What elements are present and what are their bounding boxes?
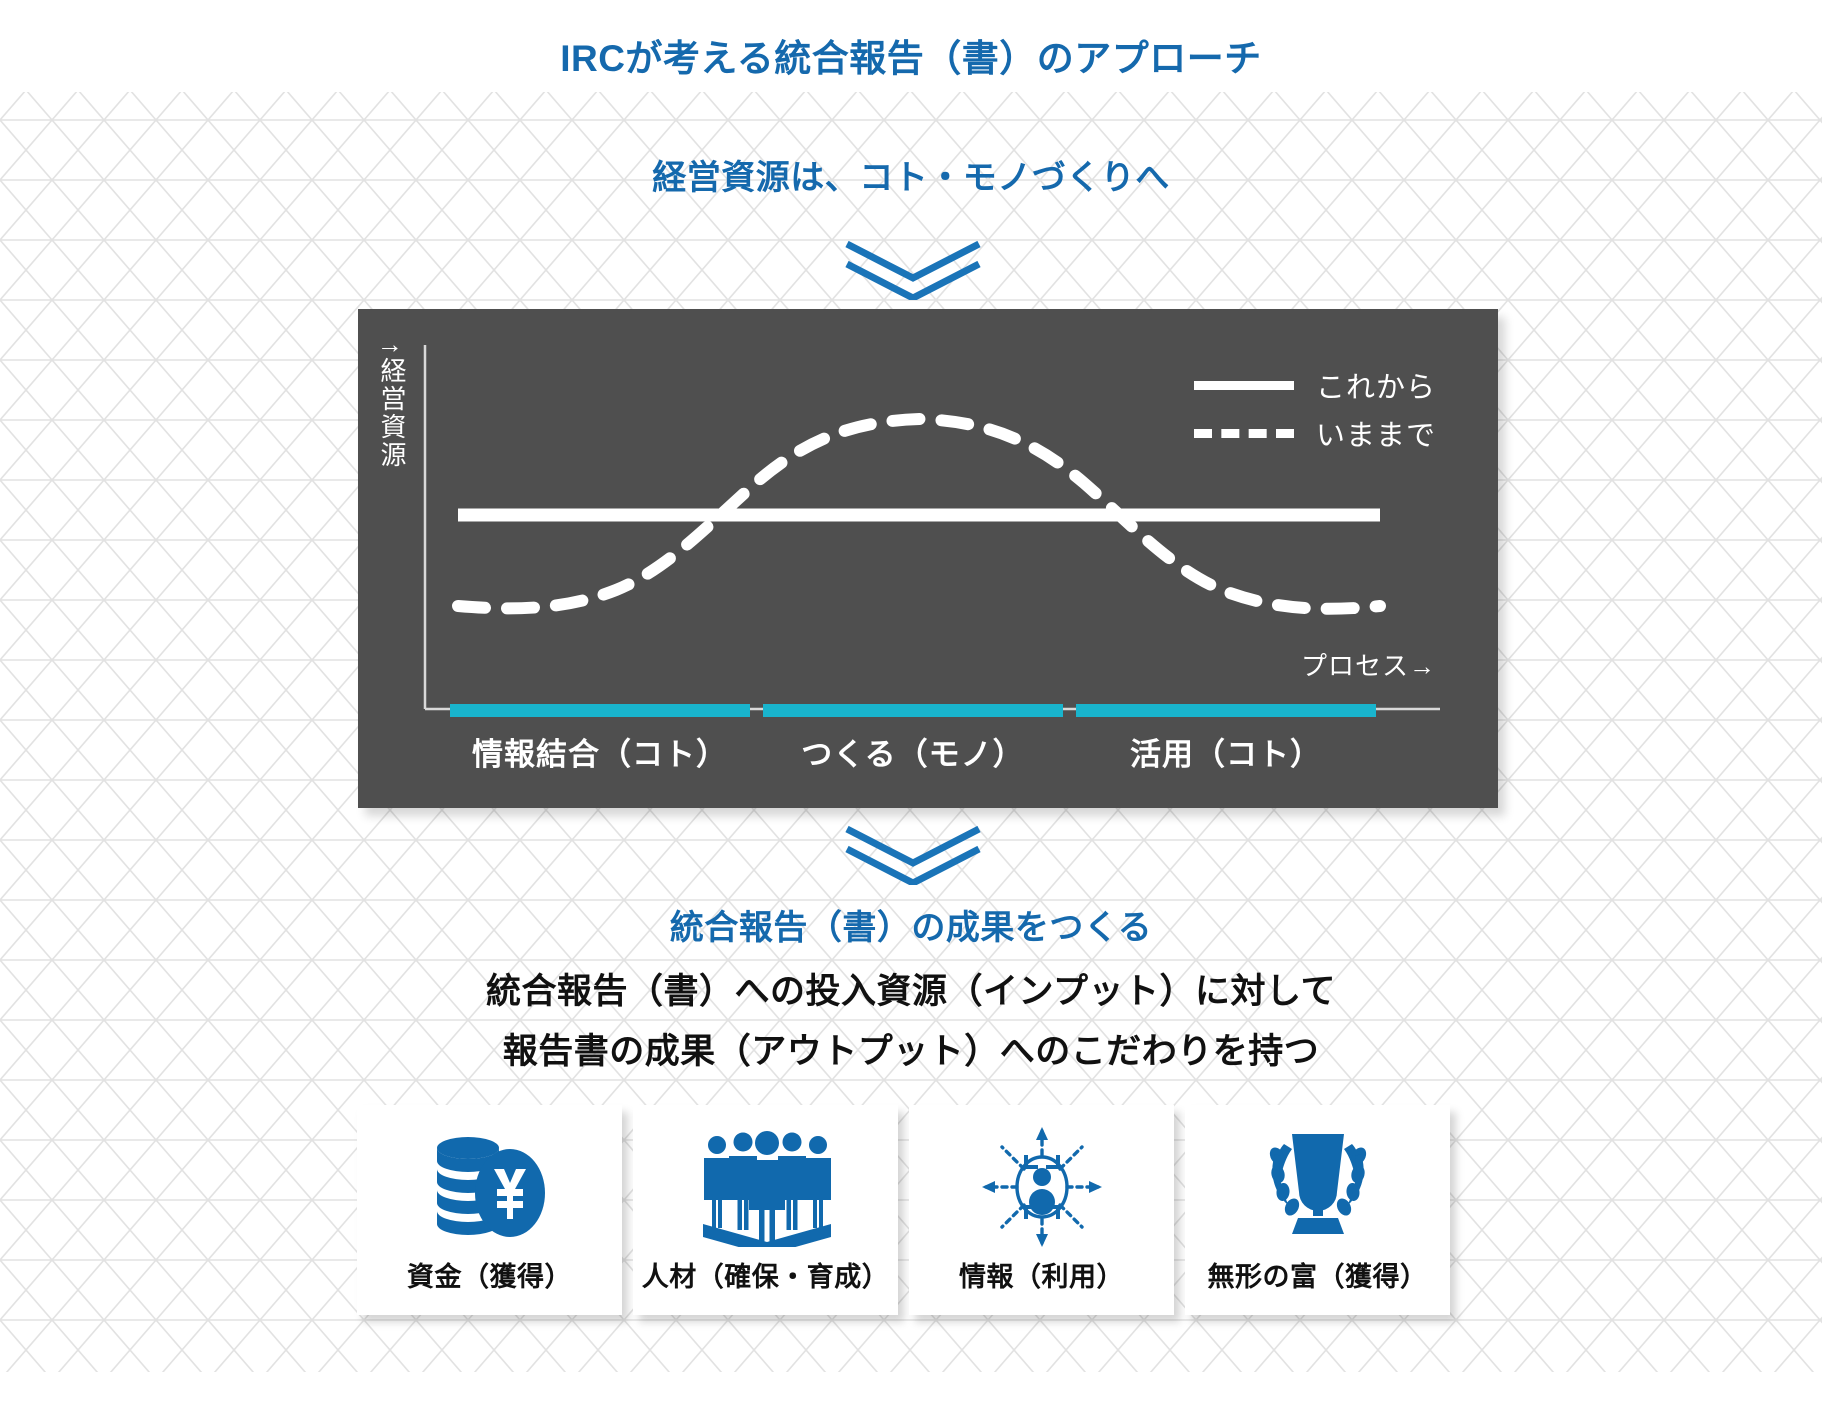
capital-cards: 資金（獲得） [357, 1105, 1450, 1315]
card-jinzai[interactable]: 人材（確保・育成） [633, 1105, 898, 1315]
people-group-icon [691, 1127, 841, 1247]
card-joho[interactable]: 情報（利用） [909, 1105, 1174, 1315]
legend-label-korekara: これから [1316, 364, 1436, 406]
segment-bar [450, 704, 750, 717]
segment-label: つくる（モノ） [763, 729, 1063, 774]
coins-yen-icon [422, 1127, 557, 1247]
card-shikin[interactable]: 資金（獲得） [357, 1105, 622, 1315]
process-segments: 情報結合（コト） つくる（モノ） 活用（コト） [450, 704, 1450, 790]
card-label: 資金（獲得） [407, 1255, 572, 1294]
x-axis-caption: プロセス→ [1301, 646, 1436, 683]
information-network-icon [972, 1127, 1112, 1247]
lead-heading: 経営資源は、コト・モノづくりへ [0, 150, 1822, 199]
page-title: IRCが考える統合報告（書）のアプローチ [0, 28, 1822, 82]
outcome-heading: 統合報告（書）の成果をつくる [0, 900, 1822, 949]
segment-tsukuru: つくる（モノ） [763, 704, 1063, 774]
trophy-laurel-icon [1248, 1127, 1388, 1247]
legend-swatch-dashed-line [1194, 429, 1294, 438]
legend-item-imamade: いままで [1194, 409, 1436, 457]
legend-label-imamade: いままで [1316, 412, 1436, 454]
segment-katsuyo: 活用（コト） [1076, 704, 1376, 774]
card-label: 人材（確保・育成） [642, 1255, 890, 1294]
chevron-down-double-icon-top [843, 240, 983, 300]
segment-label: 活用（コト） [1076, 729, 1376, 774]
legend-item-korekara: これから [1194, 361, 1436, 409]
card-label: 無形の富（獲得） [1208, 1255, 1428, 1294]
chart-legend: これから いままで [1194, 361, 1436, 457]
segment-label: 情報結合（コト） [450, 729, 750, 774]
outcome-line-1: 統合報告（書）への投入資源（インプット）に対して [0, 963, 1822, 1014]
chevron-down-double-icon-bottom [843, 825, 983, 885]
card-label: 情報（利用） [959, 1255, 1124, 1294]
resource-process-chart-panel: これから いままで プロセス→ 情報結合（コト） つくる（モノ） 活用（コト） [358, 309, 1498, 808]
card-mukei-no-tomi[interactable]: 無形の富（獲得） [1185, 1105, 1450, 1315]
outcome-line-2: 報告書の成果（アウトプット）へのこだわりを持つ [0, 1023, 1822, 1074]
segment-bar [763, 704, 1063, 717]
y-axis-caption: ↑経営資源 [374, 342, 411, 469]
segment-bar [1076, 704, 1376, 717]
legend-swatch-solid-line [1194, 381, 1294, 390]
segment-joho-ketsugo: 情報結合（コト） [450, 704, 750, 774]
